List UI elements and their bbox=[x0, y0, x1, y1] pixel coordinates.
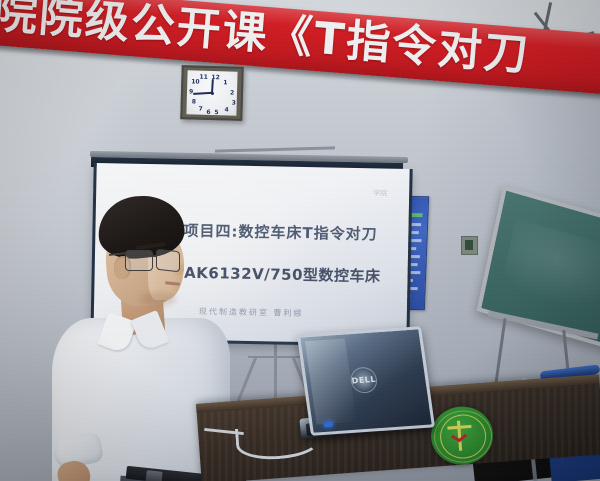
chalkboard-dust bbox=[501, 218, 600, 322]
glasses-bridge bbox=[151, 255, 157, 257]
wall-clock: 12 1 2 3 4 5 6 7 8 9 10 11 bbox=[180, 65, 243, 121]
dell-logo-icon: DELL bbox=[349, 366, 379, 394]
glasses-lens-right bbox=[156, 249, 180, 273]
chin-shadow bbox=[140, 292, 176, 306]
emblem-red-chevron bbox=[451, 434, 468, 446]
clock-hour-hand bbox=[211, 79, 214, 93]
clock-face: 12 1 2 3 4 5 6 7 8 9 10 11 bbox=[186, 70, 237, 115]
clock-minute-hand bbox=[193, 92, 212, 95]
presenter-glasses bbox=[125, 250, 187, 272]
laptop-power-led bbox=[324, 422, 333, 428]
photo-scene: 学院院级公开课《T指令对刀 12 1 2 3 4 5 6 7 8 9 10 11 bbox=[0, 0, 600, 481]
clock-center-pin bbox=[210, 91, 213, 94]
belt-buckle bbox=[145, 470, 162, 481]
dell-laptop: DELL bbox=[300, 330, 440, 440]
glasses-lens-left bbox=[125, 250, 153, 271]
slide-corner-mark: 学院 bbox=[373, 188, 387, 198]
laptop-lid-sheen bbox=[305, 338, 357, 424]
dell-logo-text: DELL bbox=[351, 375, 377, 386]
wall-socket bbox=[461, 236, 478, 255]
laptop-lid: DELL bbox=[297, 326, 435, 436]
